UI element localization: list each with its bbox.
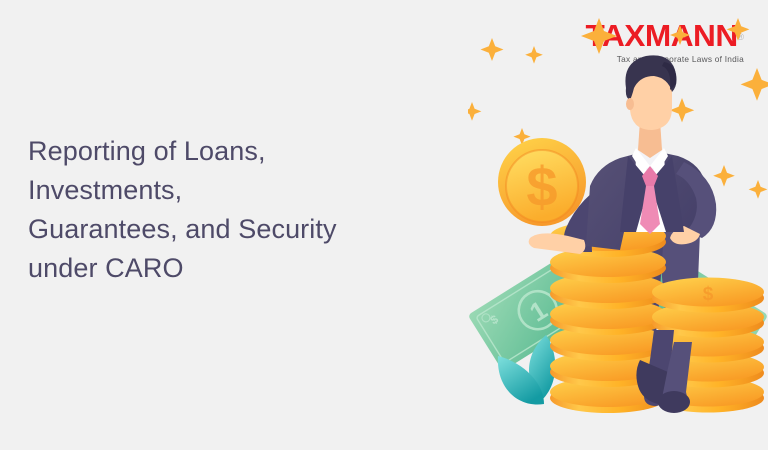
coin-dollar-symbol: $ [703, 284, 714, 305]
banner-card: TAXMANN® Tax and Corporate Laws of India… [0, 0, 768, 450]
coin-dollar-symbol: $ [526, 155, 557, 218]
sparkle-star [741, 68, 768, 101]
sparkle-star [713, 165, 735, 187]
headline-line-4: under CARO [28, 249, 448, 288]
sparkle-star [749, 180, 768, 199]
sparkle-star [481, 38, 504, 61]
gold-dollar-coin: $ [498, 138, 586, 226]
headline-line-2: Investments, [28, 171, 448, 210]
sparkle-star [670, 98, 694, 122]
sparkle-star [670, 25, 690, 45]
ear [626, 98, 634, 110]
page-title: Reporting of Loans, Investments, Guarant… [28, 132, 448, 288]
sparkle-star [468, 102, 481, 121]
sparkle-star [581, 18, 617, 54]
headline-line-1: Reporting of Loans, [28, 132, 448, 171]
sparkle-star [727, 18, 750, 41]
illustration-businessman-with-money: 1 $ 1 $ [468, 0, 768, 450]
sparkle-star [525, 46, 543, 64]
headline-line-3: Guarantees, and Security [28, 210, 448, 249]
